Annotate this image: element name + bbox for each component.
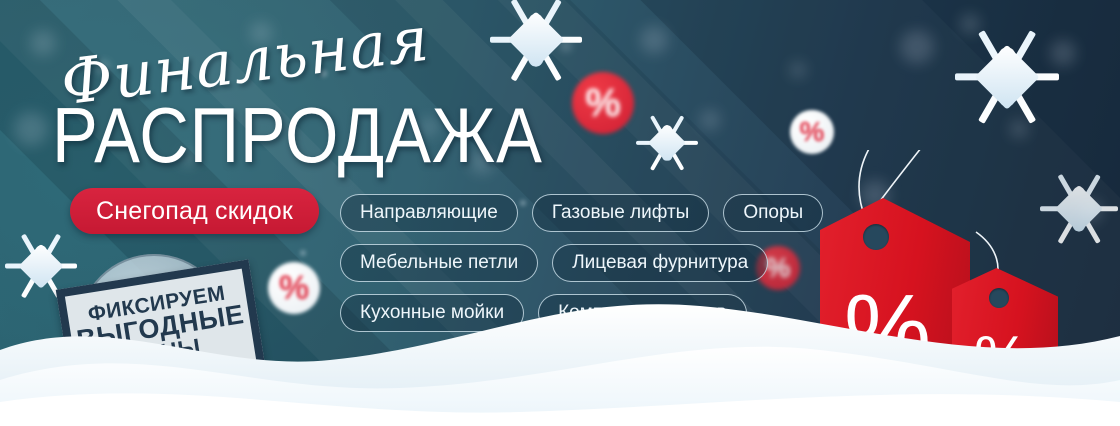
snowflake-icon — [955, 25, 1059, 129]
snow-ground — [0, 276, 1120, 426]
bokeh-dot — [30, 30, 56, 56]
category-pill-napravlyayushchie[interactable]: Направляющие — [340, 194, 518, 232]
bokeh-dot — [900, 30, 934, 64]
bokeh-dot — [790, 62, 806, 78]
bokeh-dot — [300, 250, 306, 256]
promo-banner: % % % % % Финальная РАСПРОДАЖА Снегопад … — [0, 0, 1120, 426]
bokeh-dot — [640, 26, 668, 54]
bokeh-dot — [700, 110, 720, 130]
category-pill-gazovye-lifty[interactable]: Газовые лифты — [532, 194, 710, 232]
tag-hole — [863, 224, 889, 250]
percent-bubble: % — [572, 72, 634, 134]
pill-row: Направляющие Газовые лифты Опоры — [340, 194, 810, 232]
snowflake-icon — [490, 0, 582, 86]
status-badge: Снегопад скидок — [70, 188, 319, 234]
page-title: РАСПРОДАЖА — [52, 96, 543, 174]
snowflake-icon — [636, 112, 698, 174]
bokeh-dot — [14, 112, 48, 146]
percent-bubble: % — [790, 110, 834, 154]
